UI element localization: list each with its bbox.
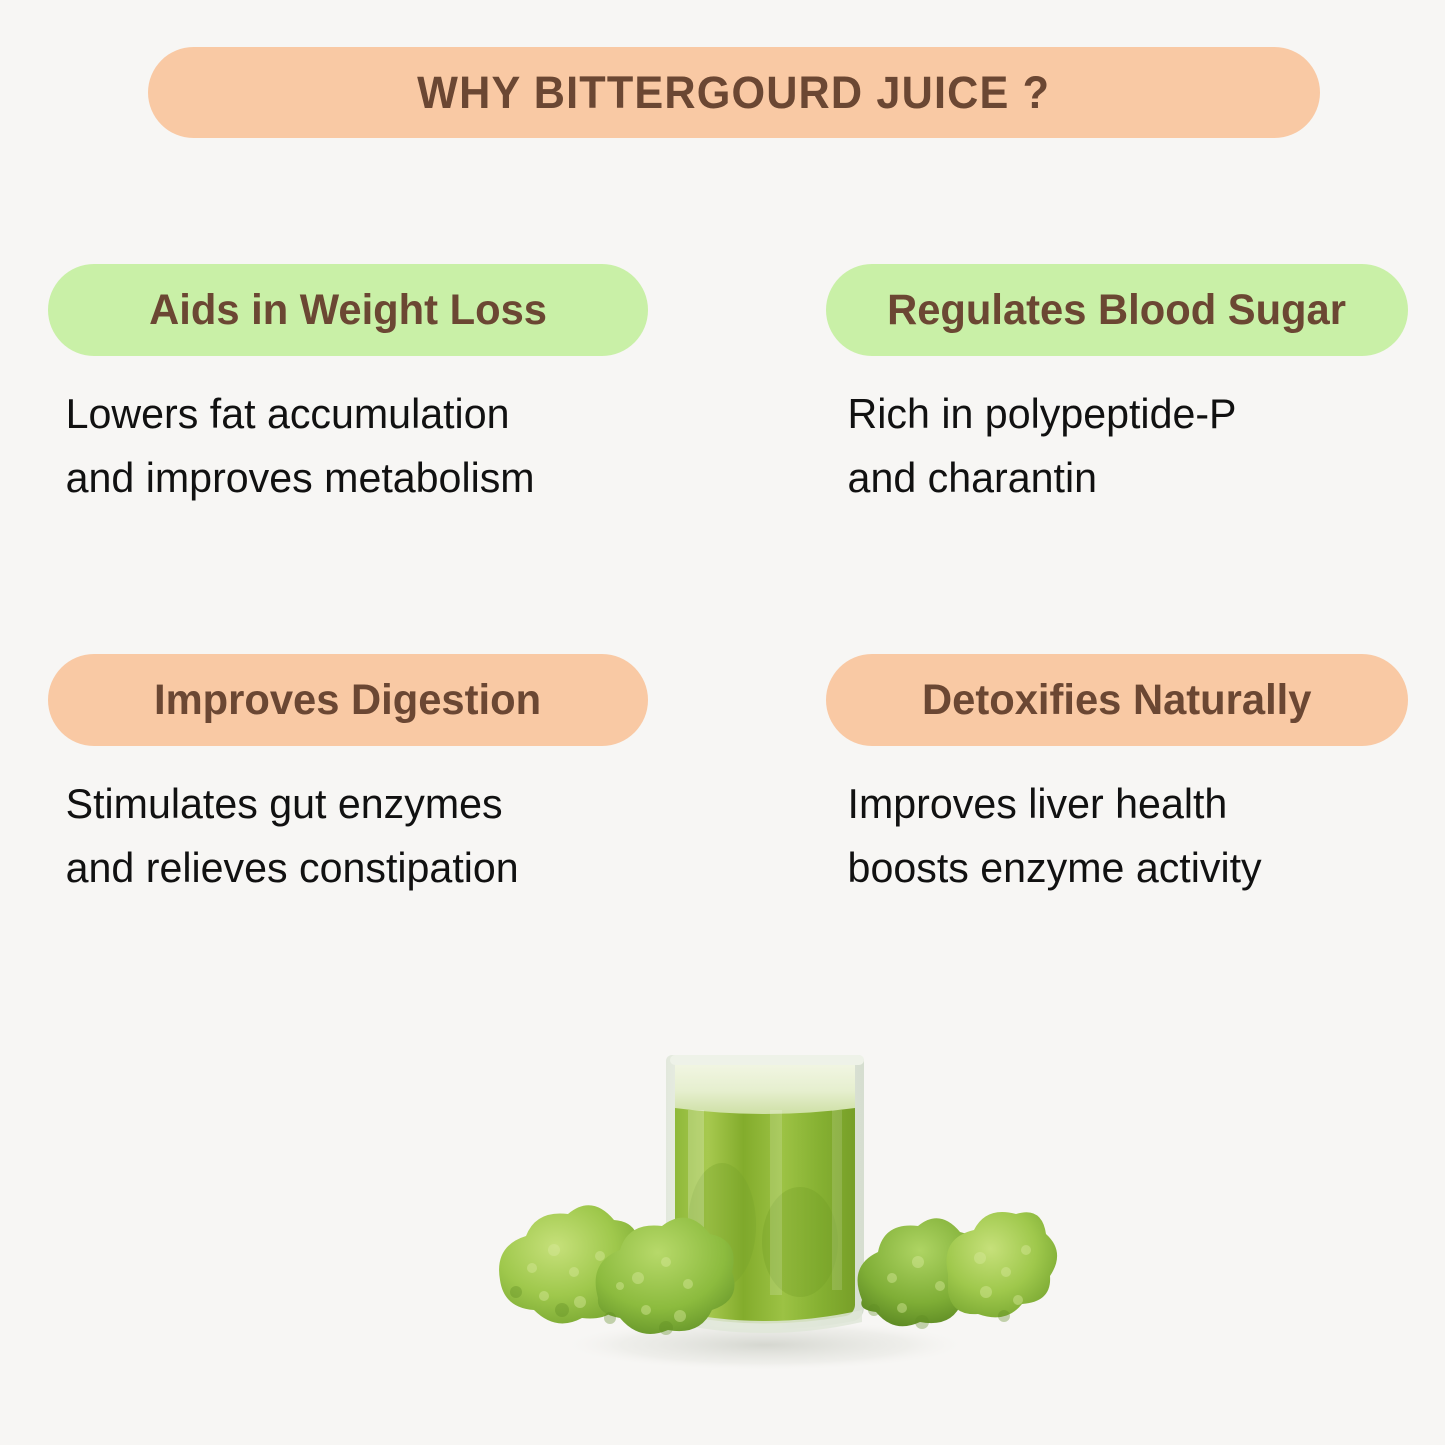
glass-rim bbox=[670, 1055, 864, 1065]
benefit-pill-detox: Detoxifies Naturally bbox=[826, 654, 1408, 746]
benefit-title-detox: Detoxifies Naturally bbox=[922, 679, 1311, 722]
bittergourd-floret-group-right bbox=[858, 1212, 1058, 1329]
benefit-description-digestion: Stimulates gut enzymes and relieves cons… bbox=[48, 772, 636, 900]
glass-highlight-mid bbox=[770, 1110, 782, 1295]
page-title: WHY BITTERGOURD JUICE ? bbox=[418, 67, 1051, 119]
benefit-row-1: Aids in Weight Loss Lowers fat accumulat… bbox=[0, 264, 1445, 654]
benefit-card-blood-sugar: Regulates Blood Sugar Rich in polypeptid… bbox=[826, 264, 1408, 510]
benefits-grid: Aids in Weight Loss Lowers fat accumulat… bbox=[0, 264, 1445, 1044]
benefit-card-digestion: Improves Digestion Stimulates gut enzyme… bbox=[48, 654, 648, 900]
benefit-pill-weight-loss: Aids in Weight Loss bbox=[48, 264, 648, 356]
infographic-root: WHY BITTERGOURD JUICE ? Aids in Weight L… bbox=[0, 0, 1445, 1445]
benefit-description-weight-loss: Lowers fat accumulation and improves met… bbox=[48, 382, 636, 510]
benefit-card-detox: Detoxifies Naturally Improves liver heal… bbox=[826, 654, 1408, 900]
juice-glass-illustration bbox=[470, 1010, 1060, 1410]
product-image-juice-glass bbox=[470, 1010, 1060, 1410]
glass-highlight-right bbox=[832, 1110, 842, 1290]
bittergourd-floret-group-left bbox=[499, 1205, 734, 1335]
benefit-card-weight-loss: Aids in Weight Loss Lowers fat accumulat… bbox=[48, 264, 648, 510]
benefit-title-weight-loss: Aids in Weight Loss bbox=[149, 289, 547, 332]
juice-foam bbox=[675, 1062, 855, 1114]
benefit-title-digestion: Improves Digestion bbox=[154, 679, 541, 722]
benefit-pill-digestion: Improves Digestion bbox=[48, 654, 648, 746]
benefit-description-detox: Improves liver health boosts enzyme acti… bbox=[826, 772, 1396, 900]
benefit-description-blood-sugar: Rich in polypeptide-P and charantin bbox=[826, 382, 1396, 510]
floret-4 bbox=[946, 1212, 1057, 1317]
page-title-banner: WHY BITTERGOURD JUICE ? bbox=[148, 47, 1320, 138]
benefit-title-blood-sugar: Regulates Blood Sugar bbox=[888, 289, 1347, 332]
benefit-pill-blood-sugar: Regulates Blood Sugar bbox=[826, 264, 1408, 356]
benefit-row-2: Improves Digestion Stimulates gut enzyme… bbox=[0, 654, 1445, 1044]
